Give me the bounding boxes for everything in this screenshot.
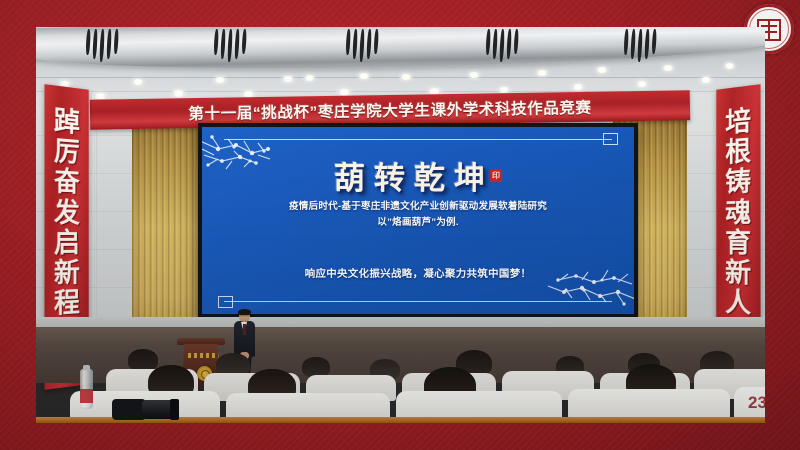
slide-corner-marker	[218, 296, 233, 308]
seat-back	[226, 393, 390, 420]
slide-title-stamp: 印	[490, 169, 502, 182]
slide-corner-marker	[603, 133, 618, 145]
vbanner-left-char: 踔	[54, 106, 80, 139]
presenter-tie	[243, 324, 246, 335]
ceiling-vent	[345, 29, 381, 62]
bottle-cap	[83, 365, 90, 370]
vbanner-right-char: 根	[725, 136, 751, 168]
slide-subtitle-line1: 疫情后时代-基于枣庄非遗文化产业创新驱动发展软着陆研究	[236, 199, 600, 215]
screenshot-root: 第十一届“挑战杯”枣庄学院大学生课外学术科技作品竞赛 踔 厉 奋 发 启 新 程…	[0, 0, 800, 450]
vbanner-left-char: 启	[54, 228, 80, 259]
ceiling-vent	[85, 29, 121, 62]
seat-back	[396, 391, 562, 420]
vbanner-left-char: 程	[54, 288, 80, 320]
bottle-label	[80, 389, 93, 403]
vbanner-right-char: 铸	[725, 167, 751, 198]
led-screen-frame: 葫转乾坤印 疫情后时代-基于枣庄非遗文化产业创新驱动发展软着陆研究 以”烙画葫芦…	[198, 123, 638, 318]
podium-top	[177, 338, 225, 345]
vbanner-right-char: 新	[725, 258, 751, 289]
vbanner-right-char: 人	[725, 288, 751, 320]
slide-title-text: 葫转乾坤	[334, 161, 494, 196]
slide-subtitle: 疫情后时代-基于枣庄非遗文化产业创新驱动发展软着陆研究 以”烙画葫芦”为例.	[236, 199, 600, 231]
camera-body	[112, 399, 146, 420]
vbanner-left-char: 新	[54, 258, 80, 289]
seat-back	[568, 389, 730, 419]
vbanner-left-char: 奋	[54, 167, 80, 198]
audience-area: 23	[36, 347, 765, 423]
slide-title: 葫转乾坤印	[202, 153, 634, 198]
vbanner-right-char: 育	[725, 228, 751, 259]
water-bottle	[80, 369, 93, 409]
event-title-text: 第十一届“挑战杯”枣庄学院大学生课外学术科技作品竞赛	[188, 96, 591, 124]
ceiling-vent	[485, 29, 521, 62]
dslr-camera	[112, 397, 178, 421]
vbanner-right-char: 魂	[725, 197, 751, 228]
camera-hood	[170, 399, 179, 420]
ceiling-vent	[213, 29, 249, 62]
audience-head	[128, 349, 158, 371]
video-frame: 第十一届“挑战杯”枣庄学院大学生课外学术科技作品竞赛 踔 厉 奋 发 启 新 程…	[36, 27, 765, 423]
slide-footer: 响应中央文化振兴战略，凝心聚力共筑中国梦！	[222, 265, 614, 280]
vbanner-left-char: 厉	[54, 136, 80, 168]
seat-number: 23	[748, 393, 765, 413]
vbanner-right-char: 培	[725, 106, 751, 139]
ceiling-vent	[623, 29, 659, 62]
stage-curtain-left	[132, 105, 198, 350]
slide-subtitle-line2: 以”烙画葫芦”为例.	[236, 215, 600, 231]
presenter-hair	[238, 309, 251, 315]
audience-head	[302, 357, 330, 377]
vbanner-left-char: 发	[54, 197, 80, 228]
led-screen: 葫转乾坤印 疫情后时代-基于枣庄非遗文化产业创新驱动发展软着陆研究 以”烙画葫芦…	[202, 127, 634, 314]
